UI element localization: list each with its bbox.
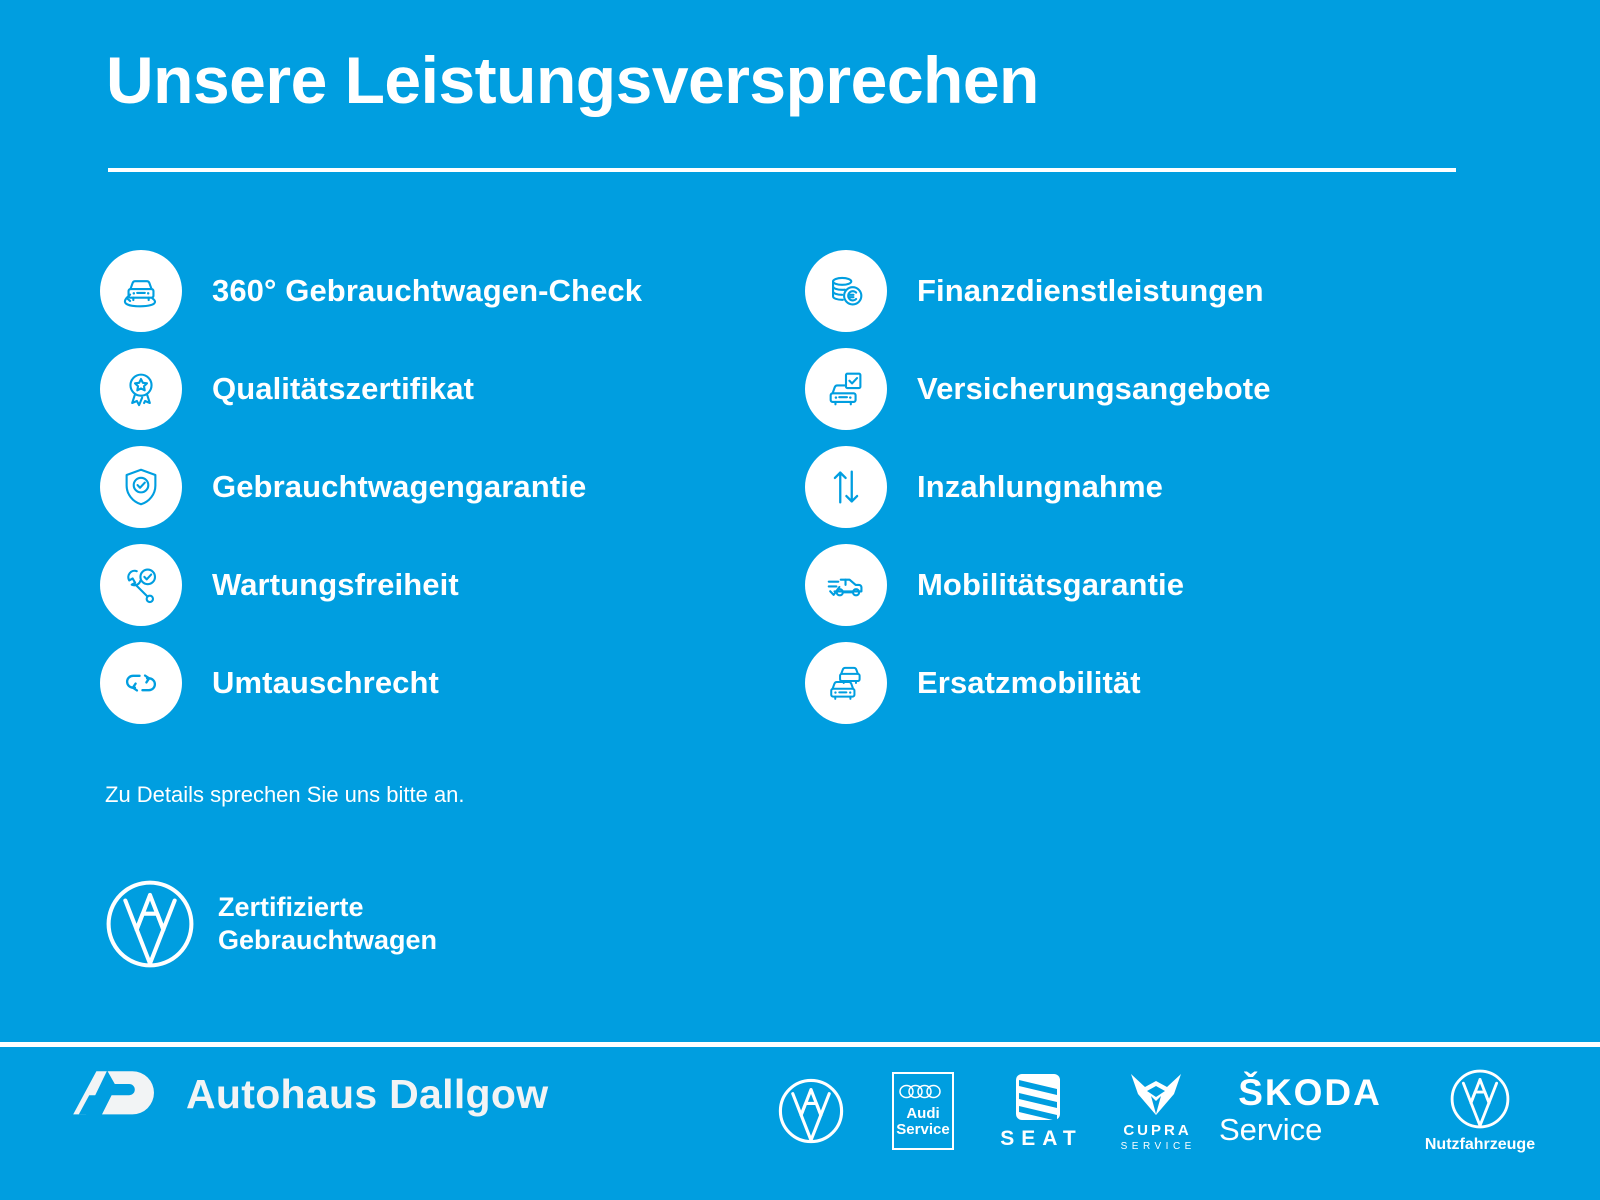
feature-item-financial-services[interactable]: Finanzdienstleistungen <box>805 242 1500 340</box>
brand-logo-vw-nutzfahrzeuge: Nutzfahrzeuge <box>1405 1068 1555 1154</box>
feature-item-mobility-guarantee[interactable]: Mobilitätsgarantie <box>805 536 1500 634</box>
title-divider <box>108 168 1456 172</box>
vw-logo-icon <box>1449 1068 1511 1130</box>
feature-label: Ersatzmobilität <box>917 665 1141 701</box>
two-cars-icon <box>805 642 887 724</box>
feature-item-insurance-offers[interactable]: Versicherungsangebote <box>805 340 1500 438</box>
feature-item-maintenance-free[interactable]: Wartungsfreiheit <box>100 536 795 634</box>
seat-label: SEAT <box>993 1127 1082 1151</box>
audi-logo-box: Audi Service <box>892 1072 954 1150</box>
feature-grid: 360° Gebrauchtwagen-Check Finanzdienstle… <box>100 242 1500 732</box>
exchange-arrows-icon <box>100 642 182 724</box>
car-mobility-check-icon <box>805 544 887 626</box>
feature-label: Umtauschrecht <box>212 665 439 701</box>
footer-divider <box>0 1042 1600 1047</box>
poster-root: Unsere Leistungsversprechen 360° Gebrauc… <box>0 0 1600 1200</box>
audi-service-label: Audi Service <box>896 1106 949 1138</box>
feature-label: Gebrauchtwagengarantie <box>212 469 586 505</box>
certified-text: Zertifizierte Gebrauchtwagen <box>218 891 437 957</box>
page-title: Unsere Leistungsversprechen <box>106 46 1039 115</box>
feature-item-quality-certificate[interactable]: Qualitätszertifikat <box>100 340 795 438</box>
dealer-name: Autohaus Dallgow <box>186 1071 548 1118</box>
up-down-arrows-icon <box>805 446 887 528</box>
vw-nutzfahrzeuge-label: Nutzfahrzeuge <box>1425 1136 1535 1154</box>
certified-line-2: Gebrauchtwagen <box>218 925 437 955</box>
vw-logo-icon <box>777 1077 845 1145</box>
cupra-mark-icon <box>1129 1071 1183 1117</box>
feature-label: Inzahlungnahme <box>917 469 1163 505</box>
brand-logo-skoda-service: ŠKODA Service <box>1215 1074 1405 1147</box>
cupra-service-label: SERVICE <box>1116 1141 1196 1152</box>
ad-monogram-icon <box>70 1068 166 1120</box>
shield-check-icon <box>100 446 182 528</box>
feature-label: Mobilitätsgarantie <box>917 567 1184 603</box>
cupra-label: CUPRA <box>1120 1122 1191 1139</box>
feature-item-replacement-mobility[interactable]: Ersatzmobilität <box>805 634 1500 732</box>
details-note: Zu Details sprechen Sie uns bitte an. <box>105 782 465 808</box>
feature-label: Qualitätszertifikat <box>212 371 474 407</box>
feature-label: 360° Gebrauchtwagen-Check <box>212 273 642 309</box>
brand-logo-seat: SEAT <box>979 1072 1097 1151</box>
skoda-service-label: Service <box>1219 1113 1322 1147</box>
wrench-check-icon <box>100 544 182 626</box>
audi-label: Audi <box>906 1105 939 1122</box>
car-360-check-icon <box>100 250 182 332</box>
dealer-branding[interactable]: Autohaus Dallgow <box>70 1068 548 1120</box>
quality-seal-icon <box>100 348 182 430</box>
audi-rings-icon <box>899 1084 947 1100</box>
coins-euro-icon <box>805 250 887 332</box>
certified-used-cars-block: Zertifizierte Gebrauchtwagen <box>104 878 437 970</box>
feature-item-360-check[interactable]: 360° Gebrauchtwagen-Check <box>100 242 795 340</box>
brand-logo-audi-service: Audi Service <box>867 1072 979 1150</box>
brand-logo-strip: Audi Service SEAT <box>755 1056 1565 1166</box>
feature-label: Versicherungsangebote <box>917 371 1271 407</box>
seat-s-icon <box>1012 1072 1064 1122</box>
vw-logo-icon <box>104 878 196 970</box>
feature-label: Wartungsfreiheit <box>212 567 459 603</box>
audi-service-label-line2: Service <box>896 1121 949 1138</box>
feature-label: Finanzdienstleistungen <box>917 273 1264 309</box>
feature-item-used-car-warranty[interactable]: Gebrauchtwagengarantie <box>100 438 795 536</box>
skoda-wordmark-icon: ŠKODA <box>1238 1074 1382 1111</box>
feature-item-exchange-right[interactable]: Umtauschrecht <box>100 634 795 732</box>
feature-item-trade-in[interactable]: Inzahlungnahme <box>805 438 1500 536</box>
brand-logo-cupra-service: CUPRA SERVICE <box>1097 1071 1215 1152</box>
brand-logo-vw <box>755 1077 867 1145</box>
car-insurance-check-icon <box>805 348 887 430</box>
certified-line-1: Zertifizierte <box>218 892 364 922</box>
